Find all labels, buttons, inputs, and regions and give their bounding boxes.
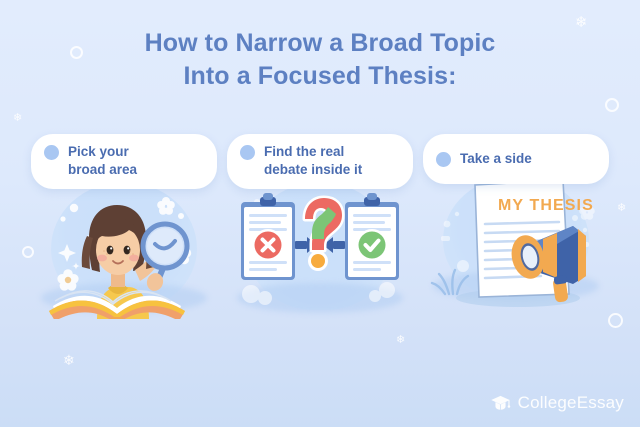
step-3-label-line-1: Take a side [460,150,532,168]
illustration-girl-reading [31,178,217,319]
question-mark [305,198,342,271]
step-card-1: Pick your broad area [31,134,217,319]
step-1-label-pill[interactable]: Pick your broad area [31,134,217,189]
infographic-canvas: ❄ ❄ ❄ ❄ ❄ How to Narrow a Broad Topic In… [0,0,640,427]
brand-logo[interactable]: CollegeEssay [490,393,624,413]
decorative-flower: ❄ [63,353,75,367]
clipboard-left [241,193,295,280]
bullet-icon [44,145,59,160]
page-title-line-1: How to Narrow a Broad Topic [0,27,640,60]
step-2-label-line-1: Find the real [264,143,362,161]
document-heading: MY THESIS [498,197,594,214]
steps-row: Pick your broad area [0,134,640,319]
page-title-line-2: Into a Focused Thesis: [0,60,640,93]
step-2-label-pill[interactable]: Find the real debate inside it [227,134,413,189]
step-3-label: Take a side [460,150,532,168]
clipboard-right [345,193,399,280]
two-clipboards-with-question-mark-icon [227,178,413,319]
graduation-cap-icon [490,395,511,411]
decorative-flower: ❄ [13,113,22,124]
step-1-label: Pick your broad area [68,143,137,179]
decorative-ring [605,98,619,112]
step-3-label-pill[interactable]: Take a side [423,134,609,184]
grass-tuft [432,270,468,294]
girl-reading-book-with-magnifier-icon [31,178,217,319]
step-1-label-line-1: Pick your [68,143,137,161]
decorative-flower: ❄ [396,335,405,346]
step-1-label-line-2: broad area [68,161,137,179]
page-title: How to Narrow a Broad Topic Into a Focus… [0,27,640,93]
illustration-clipboards-debate [227,178,413,319]
step-card-3: Take a side [423,134,609,319]
bullet-icon [240,145,255,160]
bullet-icon [436,152,451,167]
step-2-label-line-2: debate inside it [264,161,362,179]
step-card-2: Find the real debate inside it [227,134,413,319]
brand-name: CollegeEssay [518,393,624,413]
step-2-label: Find the real debate inside it [264,143,362,179]
